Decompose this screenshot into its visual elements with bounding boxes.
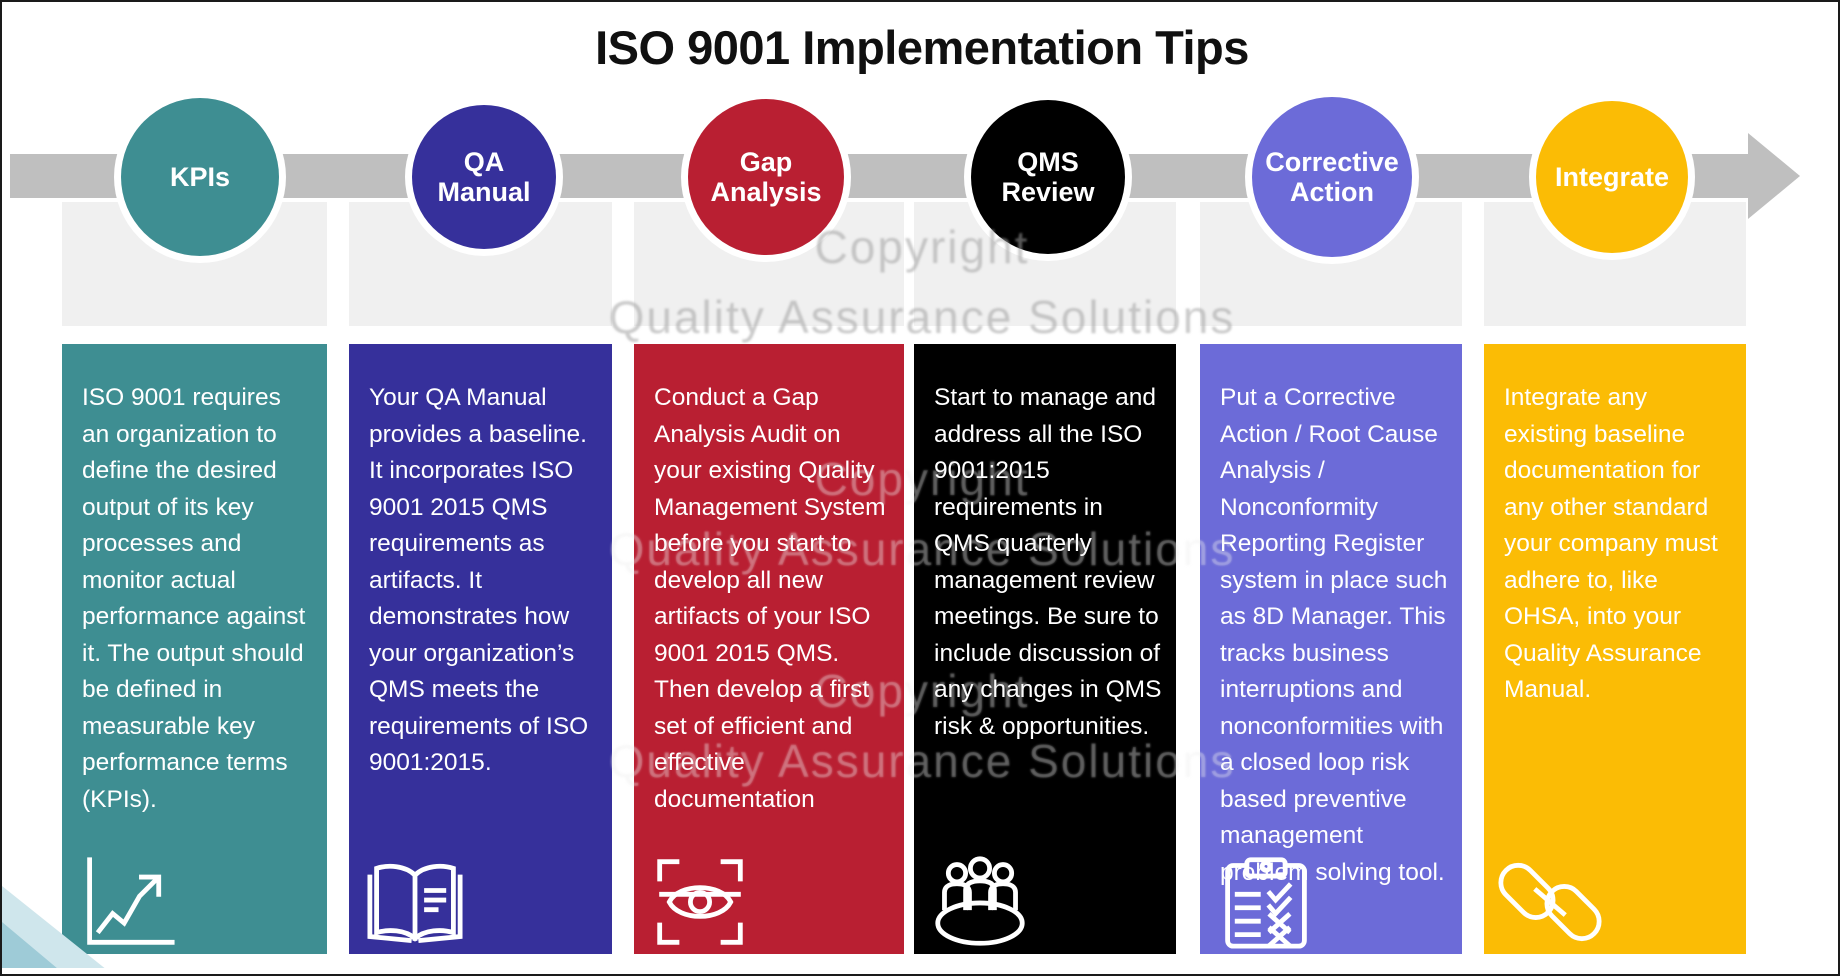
open-book-icon [363, 854, 467, 950]
step-circle-label-integrate: Integrate [1555, 162, 1669, 192]
arrow-head-icon [1748, 133, 1800, 219]
step-card-qms-review[interactable]: Start to manage and address all the ISO … [914, 344, 1176, 954]
step-circle-qa-manual[interactable]: QAManual [412, 105, 556, 249]
step-description-gap-analysis: Conduct a Gap Analysis Audit on your exi… [654, 380, 890, 818]
step-description-qms-review: Start to manage and address all the ISO … [934, 380, 1162, 745]
infographic-canvas: ISO 9001 Implementation Tips Copyright Q… [0, 0, 1840, 976]
meeting-people-icon [928, 854, 1032, 950]
step-circle-label-qa-manual: QAManual [437, 147, 530, 207]
step-card-qa-manual[interactable]: Your QA Manual provides a baseline. It i… [349, 344, 612, 954]
step-description-kpis: ISO 9001 requires an organization to def… [82, 380, 313, 818]
page-title: ISO 9001 Implementation Tips [2, 20, 1840, 75]
eye-scan-icon [648, 854, 752, 950]
bottom-white-bar [2, 968, 1840, 974]
step-circle-kpis[interactable]: KPIs [121, 98, 279, 256]
step-card-kpis[interactable]: ISO 9001 requires an organization to def… [62, 344, 327, 954]
step-description-corrective-action: Put a Corrective Action / Root Cause Ana… [1220, 380, 1448, 891]
step-description-integrate: Integrate any existing baseline document… [1504, 380, 1732, 709]
step-description-qa-manual: Your QA Manual provides a baseline. It i… [369, 380, 598, 782]
step-circle-label-gap-analysis: GapAnalysis [710, 147, 821, 207]
corner-decoration-dark [2, 922, 64, 974]
step-circle-label-qms-review: QMSReview [1001, 147, 1094, 207]
step-circle-label-kpis: KPIs [170, 162, 230, 192]
step-card-corrective-action[interactable]: Put a Corrective Action / Root Cause Ana… [1200, 344, 1462, 954]
step-circle-qms-review[interactable]: QMSReview [971, 100, 1125, 254]
clipboard-checklist-icon [1214, 854, 1318, 950]
step-card-integrate[interactable]: Integrate any existing baseline document… [1484, 344, 1746, 954]
step-card-gap-analysis[interactable]: Conduct a Gap Analysis Audit on your exi… [634, 344, 904, 954]
step-circle-label-corrective-action: CorrectiveAction [1265, 147, 1399, 207]
step-circle-corrective-action[interactable]: CorrectiveAction [1252, 97, 1412, 257]
step-circle-integrate[interactable]: Integrate [1536, 101, 1688, 253]
chain-link-icon [1498, 854, 1602, 950]
step-circle-gap-analysis[interactable]: GapAnalysis [688, 99, 844, 255]
